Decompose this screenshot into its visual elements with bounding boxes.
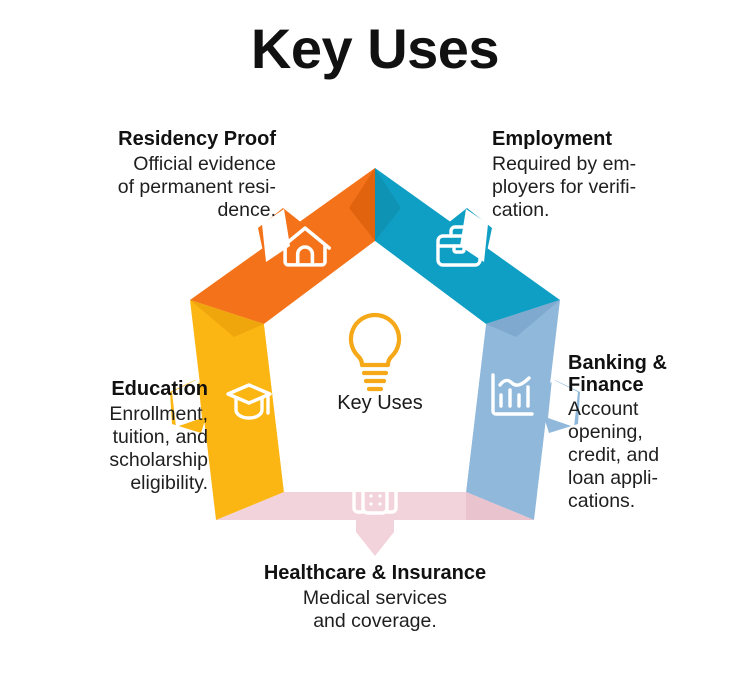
label-banking-description: Account opening, credit, and loan appli-… — [568, 398, 748, 513]
label-banking-title: Banking & Finance — [568, 352, 748, 397]
label-education-description: Enrollment, tuition, and scholarship eli… — [22, 403, 208, 495]
label-residency-title: Residency Proof — [28, 128, 276, 152]
label-banking[interactable]: Banking & Finance Account opening, credi… — [568, 352, 748, 513]
label-education-title: Education — [22, 378, 208, 402]
label-employment-title: Employment — [492, 128, 742, 152]
label-residency-description: Official evidence of permanent resi- den… — [28, 153, 276, 222]
label-residency[interactable]: Residency Proof Official evidence of per… — [28, 128, 276, 222]
label-employment[interactable]: Employment Required by em- ployers for v… — [492, 128, 742, 222]
label-education[interactable]: Education Enrollment, tuition, and schol… — [22, 378, 208, 495]
label-healthcare-title: Healthcare & Insurance — [175, 562, 575, 586]
healthcare-arrow-head — [356, 512, 394, 556]
center-caption: Key Uses — [285, 392, 475, 415]
label-healthcare[interactable]: Healthcare & Insurance Medical services … — [175, 562, 575, 633]
label-healthcare-description: Medical services and coverage. — [175, 587, 575, 633]
segment-healthcare[interactable] — [216, 492, 534, 556]
label-employment-description: Required by em- ployers for verifi- cati… — [492, 153, 742, 222]
